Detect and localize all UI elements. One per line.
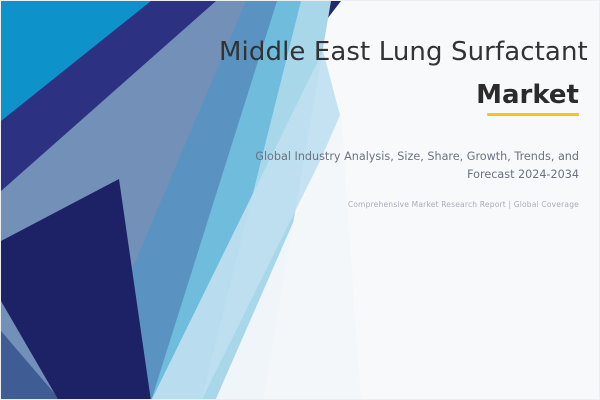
report-cover-page: Middle East Lung Surfactant Market Globa… xyxy=(0,0,600,400)
accent-underline xyxy=(487,113,579,116)
page-caption: Comprehensive Market Research Report | G… xyxy=(219,200,579,209)
page-title: Middle East Lung Surfactant xyxy=(219,37,579,68)
page-title-emphasis: Market xyxy=(219,80,579,111)
page-subtitle: Global Industry Analysis, Size, Share, G… xyxy=(219,148,579,183)
cover-text-block: Middle East Lung Surfactant Market Globa… xyxy=(219,37,579,209)
title-underline-wrapper xyxy=(219,113,579,117)
